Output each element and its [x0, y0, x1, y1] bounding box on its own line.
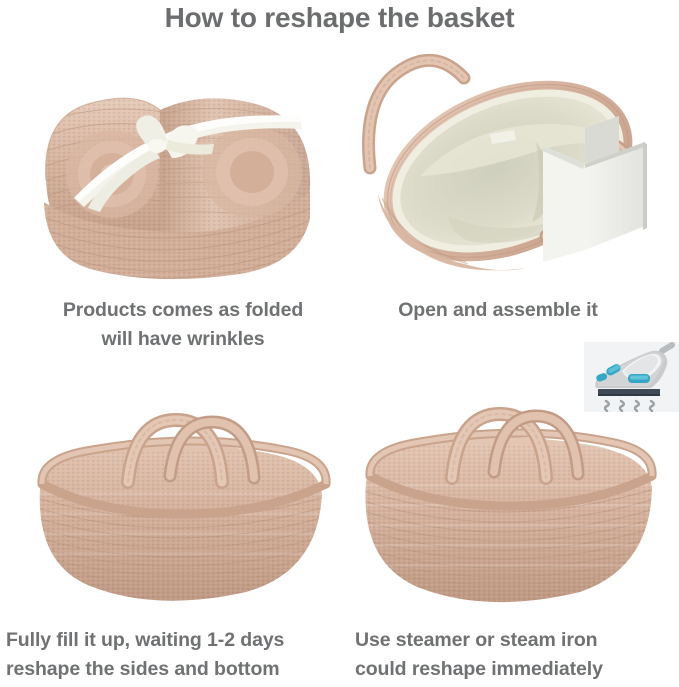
instruction-infographic: How to reshape the basket: [0, 0, 679, 687]
image-folded-basket: [28, 52, 338, 292]
rope-texture: [22, 452, 347, 624]
image-open-basket: [340, 46, 679, 292]
caption-step-folded: Products comes as folded will have wrink…: [28, 296, 338, 354]
caption-step-steam: Use steamer or steam iron could reshape …: [355, 626, 679, 684]
rope-texture: [348, 444, 673, 624]
steam-iron-icon: [584, 342, 679, 412]
image-empty-basket: [348, 386, 673, 624]
caption-step-open: Open and assemble it: [348, 296, 648, 325]
image-filled-basket: Aveeno: [22, 392, 347, 624]
page-title: How to reshape the basket: [0, 2, 679, 34]
basket-body: [22, 441, 347, 624]
basket-body: [348, 433, 673, 624]
caption-step-fill: Fully fill it up, waiting 1-2 days resha…: [6, 626, 351, 684]
